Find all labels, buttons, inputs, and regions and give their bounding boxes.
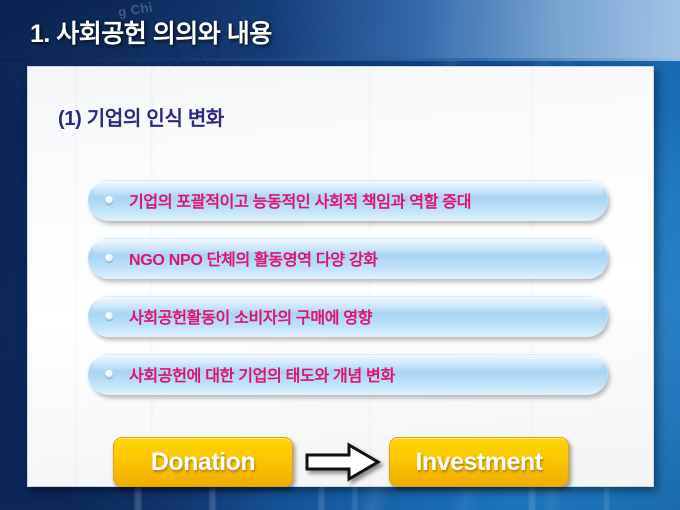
list-item[interactable]: 사회공헌활동이 소비자의 구매에 영향	[88, 295, 608, 337]
list-item[interactable]: NGO NPO 단체의 활동영역 다양 강화	[88, 237, 608, 279]
flow-box-donation[interactable]: Donation	[113, 437, 293, 487]
bullet-dot-icon	[105, 254, 113, 262]
list-item[interactable]: 기업의 포괄적이고 능동적인 사회적 책임과 역할 증대	[88, 179, 608, 221]
bullet-dot-icon	[105, 370, 113, 378]
bullet-dot-icon	[105, 312, 113, 320]
flow-box-investment[interactable]: Investment	[389, 437, 569, 487]
slide-title: 1. 사회공헌 의의와 내용	[30, 14, 272, 50]
flow-box-donation-label: Donation	[151, 448, 255, 477]
content-panel: (1) 기업의 인식 변화 기업의 포괄적이고 능동적인 사회적 책임과 역할 …	[27, 66, 654, 487]
list-item-label: 사회공헌활동이 소비자의 구매에 영향	[129, 304, 372, 328]
bullet-list: 기업의 포괄적이고 능동적인 사회적 책임과 역할 증대 NGO NPO 단체의…	[88, 179, 608, 411]
list-item-label: NGO NPO 단체의 활동영역 다양 강화	[129, 246, 378, 270]
bullet-dot-icon	[105, 196, 113, 204]
title-underline	[0, 58, 680, 61]
list-item-label: 사회공헌에 대한 기업의 태도와 개념 변화	[129, 362, 395, 386]
slide-canvas: g Chi 1. 사회공헌 의의와 내용 (1) 기업의 인식 변화 기업의 포…	[0, 0, 680, 510]
list-item-label: 기업의 포괄적이고 능동적인 사회적 책임과 역할 증대	[129, 188, 471, 212]
list-item[interactable]: 사회공헌에 대한 기업의 태도와 개념 변화	[88, 353, 608, 395]
flow-diagram: Donation Investment	[0, 437, 680, 487]
right-arrow-icon	[305, 442, 381, 482]
section-subtitle: (1) 기업의 인식 변화	[58, 102, 224, 131]
flow-box-investment-label: Investment	[416, 448, 543, 477]
